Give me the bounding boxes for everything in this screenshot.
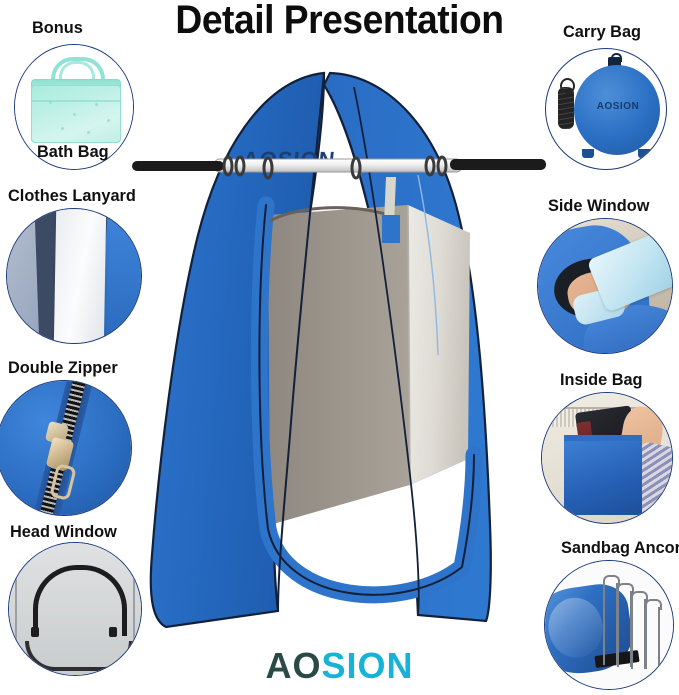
product-detail-image: Detail Presentation — [0, 0, 679, 695]
inside-bag-label: Inside Bag — [560, 370, 643, 390]
carry-bag-label: Carry Bag — [563, 22, 641, 42]
bath-bag-dot — [87, 131, 90, 134]
double-zipper-callout — [0, 380, 132, 516]
carry-bag-foot-icon — [638, 149, 650, 158]
side-window-icon — [538, 219, 672, 353]
bonus-label: Bonus — [32, 18, 83, 38]
head-window-seam-right — [133, 573, 135, 653]
sandbag-ancor-label: Sandbag Ancor — [561, 538, 679, 558]
double-zipper-label: Double Zipper — [8, 358, 118, 378]
bath-bag-label: Bath Bag — [37, 142, 109, 162]
brand-text-cyan: SION — [321, 645, 413, 686]
double-zipper-icon — [0, 381, 131, 515]
inside-bag-pocket-icon — [542, 393, 672, 523]
head-window-arch-end-left — [31, 627, 39, 637]
tent-graphic: AOSION — [118, 55, 548, 635]
carry-bag-callout: AOSION — [545, 48, 667, 170]
main-tent-illustration: AOSION — [118, 55, 548, 635]
brand-text-dark: AO — [265, 645, 321, 686]
tent-interior-left-wall — [268, 205, 410, 525]
clothes-lanyard-callout — [6, 208, 142, 344]
head-window-arch-end-right — [109, 627, 117, 637]
tent-small-pocket — [382, 215, 400, 243]
footer-brand-logo: AOSION — [0, 645, 679, 687]
hanging-bar-left-grip — [132, 161, 224, 171]
lanyard-strap — [54, 208, 107, 344]
side-window-callout — [537, 218, 673, 354]
bath-bag-body-icon — [31, 85, 121, 143]
inside-bag-pocket — [564, 441, 642, 515]
head-window-seam-left — [15, 573, 17, 653]
clothes-lanyard-label: Clothes Lanyard — [8, 186, 136, 206]
carry-bag-brand-text: AOSION — [586, 101, 650, 112]
bath-bag-dot — [107, 119, 110, 122]
inside-bag-callout — [541, 392, 673, 524]
bath-bag-dot — [49, 101, 52, 104]
clothes-lanyard-icon — [7, 209, 141, 343]
bath-bag-dot — [61, 127, 64, 130]
bath-bag-dot — [73, 113, 76, 116]
tent-interior-right-wall — [408, 205, 470, 485]
carry-bag-cord-icon — [558, 87, 574, 129]
head-window-label: Head Window — [10, 522, 117, 542]
round-carry-bag-icon: AOSION — [546, 49, 666, 169]
bath-bag-dot — [95, 103, 98, 106]
carry-bag-foot-icon — [582, 149, 594, 158]
hanging-bar-right-grip — [450, 159, 546, 170]
side-window-label: Side Window — [548, 196, 649, 216]
page-title: Detail Presentation — [24, 0, 655, 43]
